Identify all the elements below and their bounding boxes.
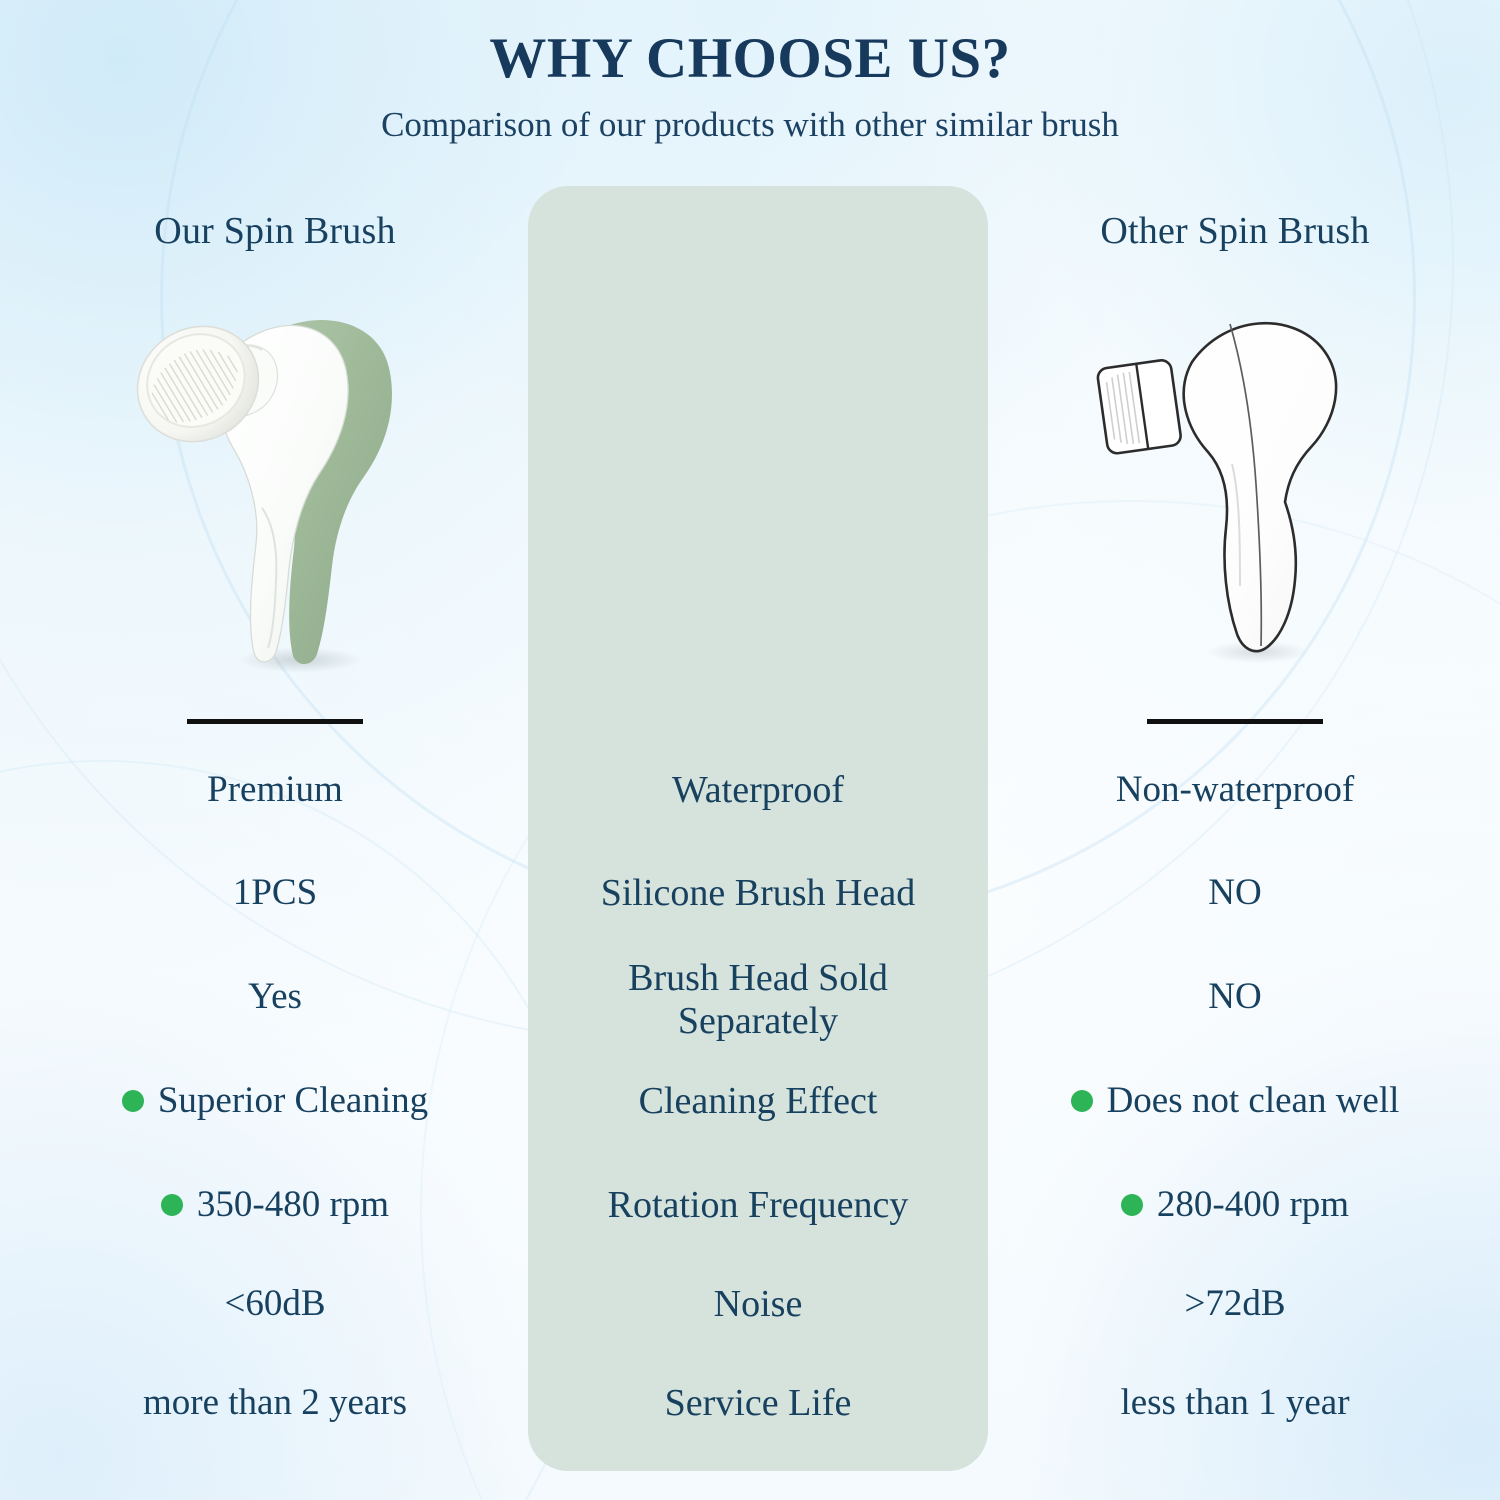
value-row: 280-400 rpm [1000,1184,1470,1225]
value-text: Premium [207,769,343,810]
value-text: less than 1 year [1120,1382,1349,1423]
value-row: Non-waterproof [1000,769,1470,810]
value-row: <60dB [40,1283,510,1324]
product-image-left [40,296,510,686]
feature-text: Waterproof [672,769,844,812]
bullet-icon [1121,1194,1143,1216]
feature-row: Rotation Frequency [515,1184,1001,1227]
value-text: Yes [248,976,302,1017]
value-text: NO [1208,872,1261,913]
value-text: <60dB [224,1283,325,1324]
feature-row: Cleaning Effect [515,1080,1001,1123]
value-text: NO [1208,976,1261,1017]
bullet-icon [122,1090,144,1112]
feature-text: Cleaning Effect [639,1080,878,1123]
value-text: Does not clean well [1107,1080,1400,1121]
value-row: less than 1 year [1000,1382,1470,1423]
value-row: NO [1000,872,1470,913]
value-text: Superior Cleaning [158,1080,428,1121]
value-row: Yes [40,976,510,1017]
feature-text: Noise [714,1283,803,1326]
value-row: Does not clean well [1000,1080,1470,1121]
value-row: more than 2 years [40,1382,510,1423]
value-row: >72dB [1000,1283,1470,1324]
bullet-icon [161,1194,183,1216]
value-row: 350-480 rpm [40,1184,510,1225]
value-row: NO [1000,976,1470,1017]
value-text: 1PCS [233,872,317,913]
infographic-page: WHY CHOOSE US? Comparison of our product… [0,0,1500,1500]
page-title: WHY CHOOSE US? [0,28,1500,90]
product-image-right [1000,296,1470,686]
column-title-right: Other Spin Brush [1000,209,1470,253]
value-row: Premium [40,769,510,810]
divider-right [1147,719,1323,724]
value-text: 280-400 rpm [1157,1184,1349,1225]
center-feature-panel [528,186,988,1471]
spin-brush-outline-product-icon [1080,296,1390,676]
feature-text: Silicone Brush Head [601,872,916,915]
feature-text: Rotation Frequency [608,1184,909,1227]
value-text: more than 2 years [143,1382,407,1423]
feature-text: Brush Head Sold Separately [628,957,888,1044]
value-row: Superior Cleaning [40,1080,510,1121]
header: WHY CHOOSE US? Comparison of our product… [0,28,1500,144]
spin-brush-green-product-icon [110,296,440,676]
value-text: Non-waterproof [1116,769,1354,810]
divider-left [187,719,363,724]
value-row: 1PCS [40,872,510,913]
feature-text: Service Life [665,1382,852,1425]
feature-row: Silicone Brush Head [515,872,1001,915]
feature-row: Noise [515,1283,1001,1326]
value-text: 350-480 rpm [197,1184,389,1225]
page-subtitle: Comparison of our products with other si… [0,106,1500,145]
feature-row: Service Life [515,1382,1001,1425]
feature-row: Brush Head Sold Separately [515,957,1001,1044]
feature-row: Waterproof [515,769,1001,812]
value-text: >72dB [1184,1283,1285,1324]
column-title-left: Our Spin Brush [40,209,510,253]
bullet-icon [1071,1090,1093,1112]
